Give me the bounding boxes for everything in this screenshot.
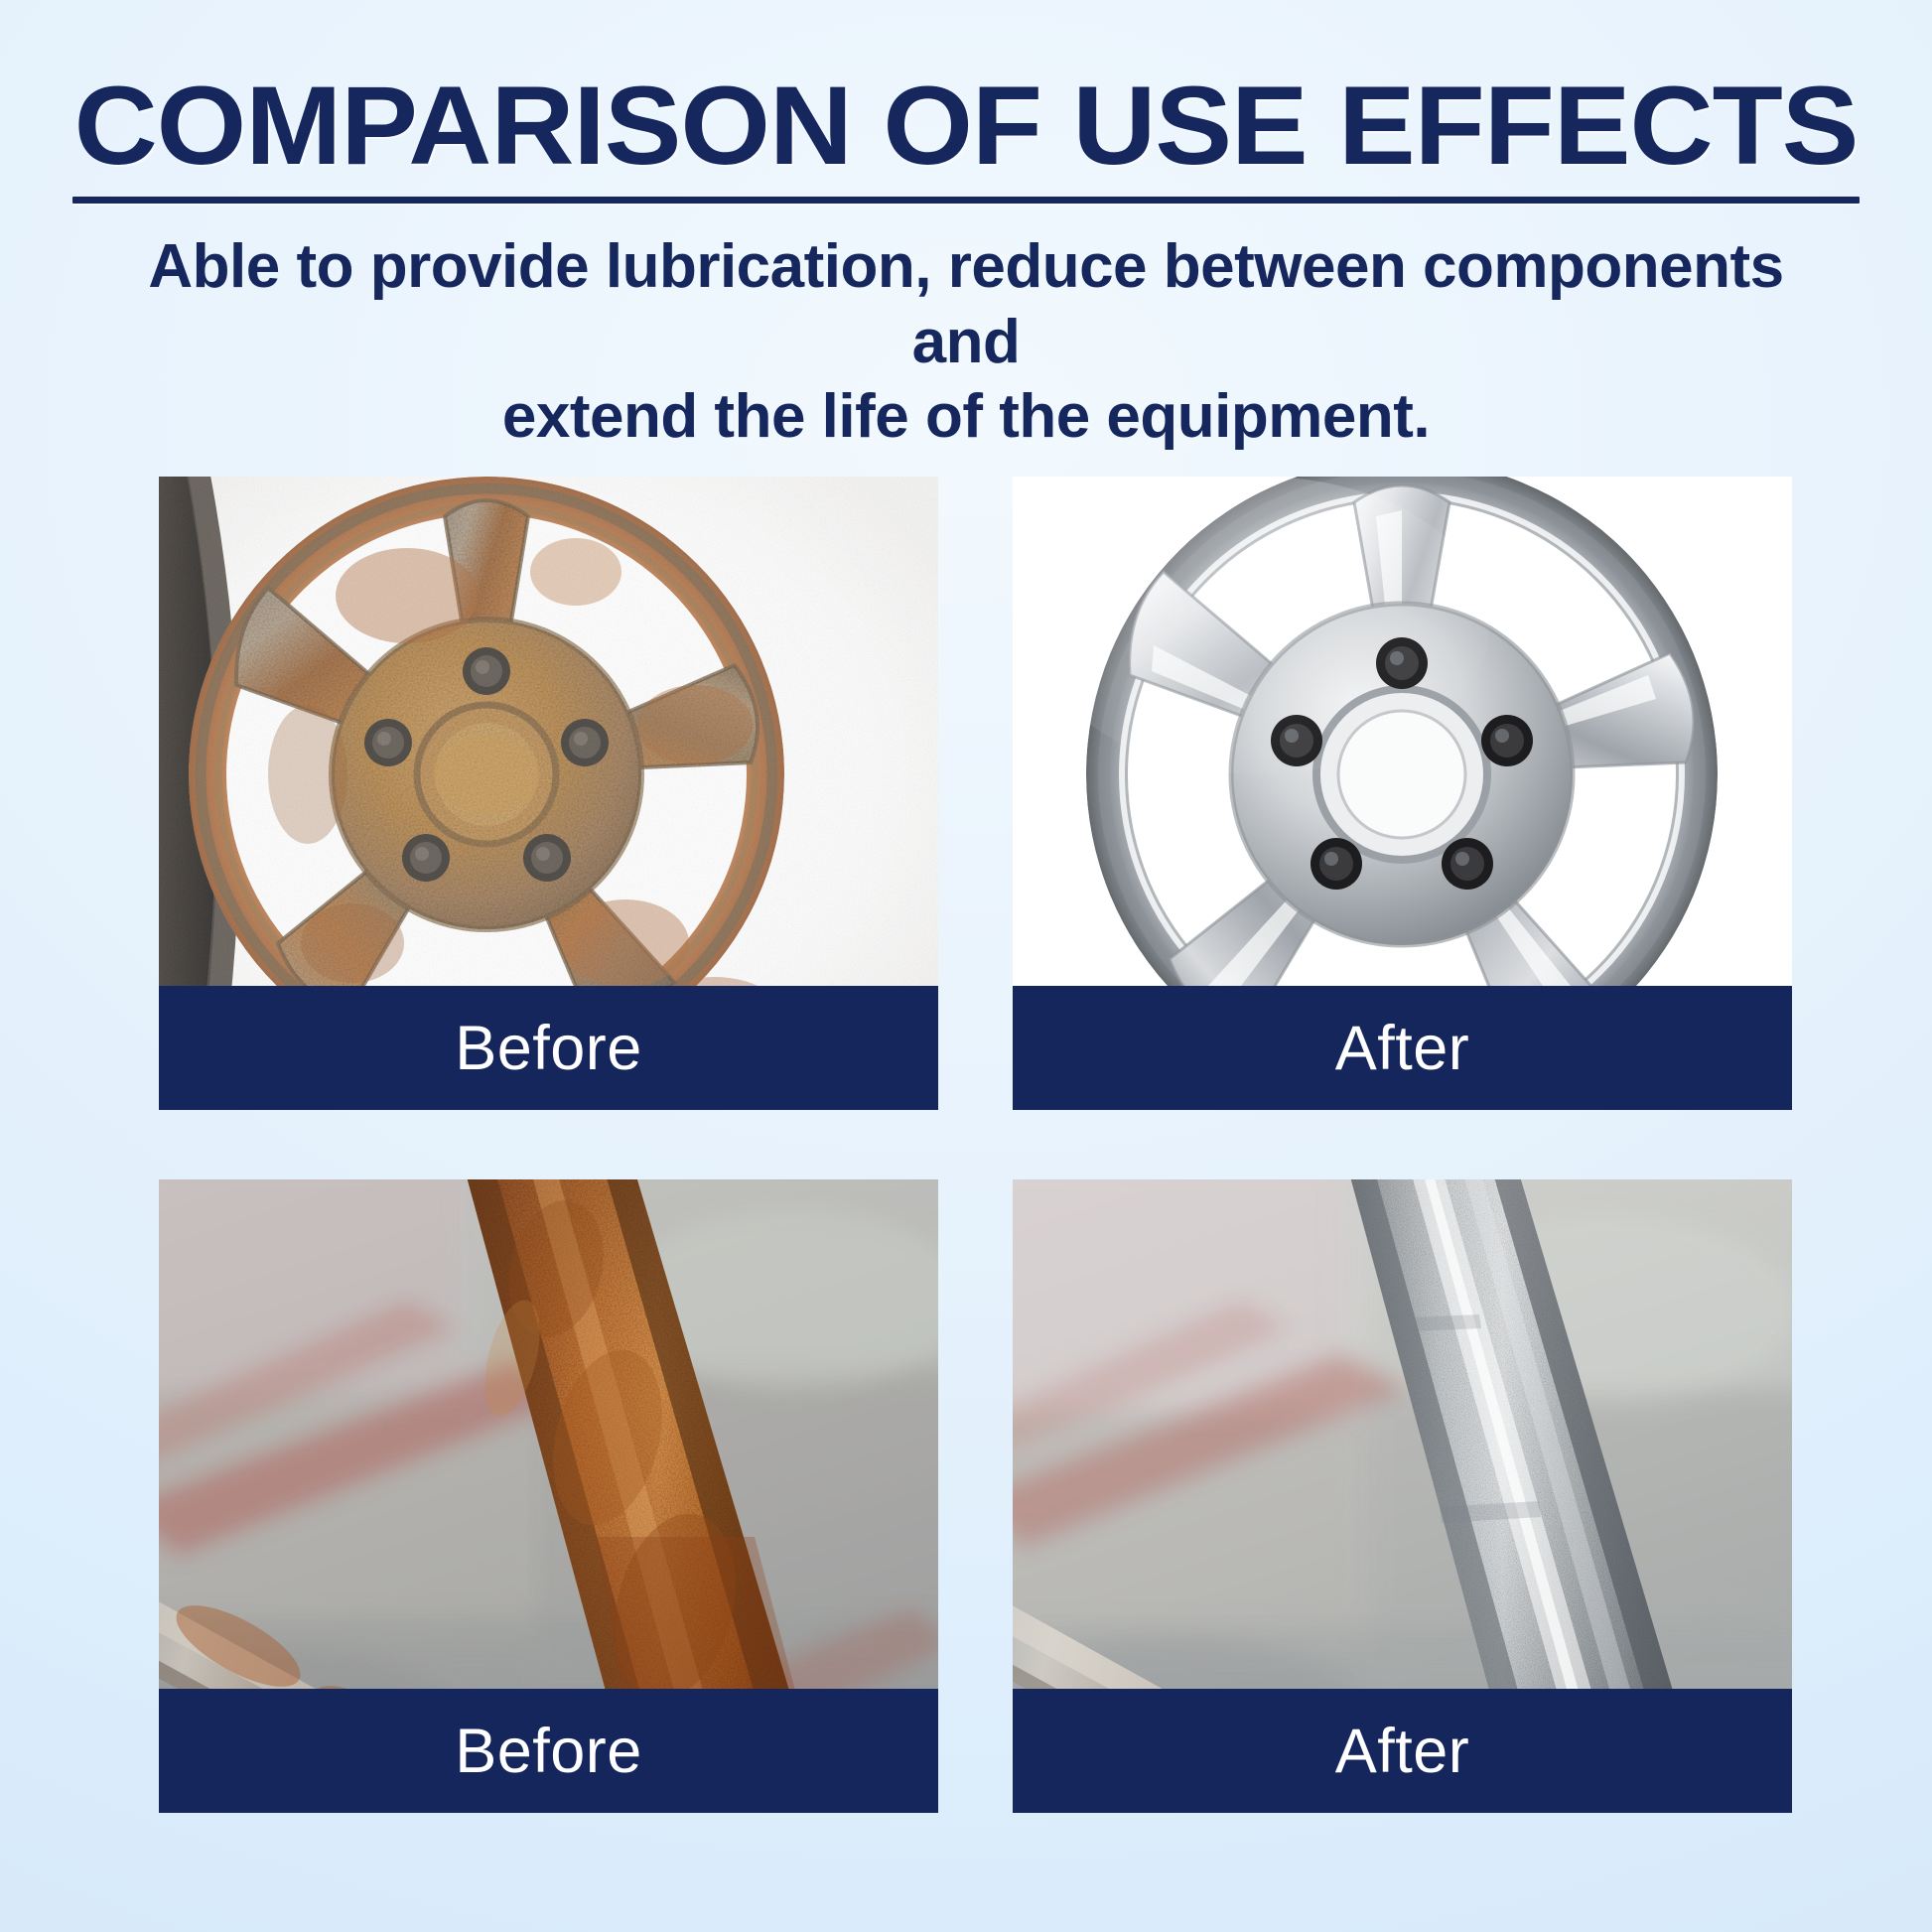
comparison-grid: Before	[159, 477, 1792, 1813]
panel-wheel-after[interactable]: After	[1013, 477, 1792, 1110]
page-title: COMPARISON OF USE EFFECTS	[23, 69, 1908, 183]
panel-label-text: Before	[455, 1013, 642, 1084]
subtitle-line-1: Able to provide lubrication, reduce betw…	[117, 229, 1815, 379]
panel-label-wheel-before: Before	[159, 986, 938, 1110]
panel-label-text: Before	[455, 1716, 642, 1787]
title-divider	[72, 197, 1860, 204]
header: COMPARISON OF USE EFFECTS Able to provid…	[0, 0, 1932, 455]
panel-label-text: After	[1335, 1013, 1470, 1084]
panel-pipe-before[interactable]: Before	[159, 1179, 938, 1813]
panel-pipe-after[interactable]: After	[1013, 1179, 1792, 1813]
panel-label-text: After	[1335, 1716, 1470, 1787]
panel-label-pipe-before: Before	[159, 1689, 938, 1813]
subtitle: Able to provide lubrication, reduce betw…	[117, 229, 1815, 455]
subtitle-line-2: extend the life of the equipment.	[117, 379, 1815, 455]
panel-wheel-before[interactable]: Before	[159, 477, 938, 1110]
panel-label-wheel-after: After	[1013, 986, 1792, 1110]
panel-label-pipe-after: After	[1013, 1689, 1792, 1813]
